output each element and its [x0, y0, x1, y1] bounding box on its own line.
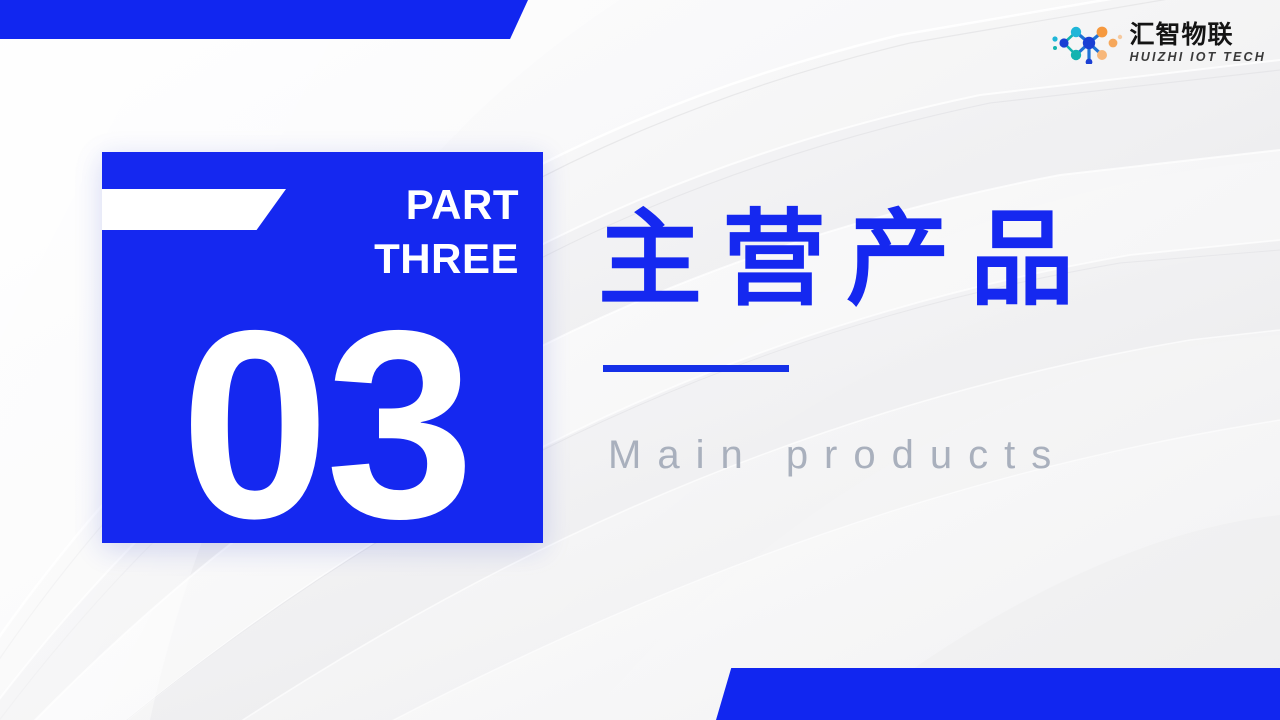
bottom-right-accent-bar [716, 668, 1280, 720]
top-left-accent-bar [0, 0, 528, 39]
company-logo: 汇智物联 HUIZHI IOT TECH [1052, 22, 1266, 64]
page-subtitle: Main products [608, 433, 1067, 478]
logo-text-block: 汇智物联 HUIZHI IOT TECH [1130, 23, 1266, 64]
slide-canvas: PART THREE 03 主营产品 Main products [0, 0, 1280, 720]
title-divider-rule [603, 365, 789, 372]
logo-name-en: HUIZHI IOT TECH [1130, 51, 1266, 64]
part-label-line-1: PART [406, 181, 519, 228]
section-number-panel: PART THREE 03 [102, 152, 543, 543]
molecule-network-icon [1052, 22, 1124, 64]
part-label: PART THREE [102, 178, 519, 286]
logo-name-cn: 汇智物联 [1130, 23, 1266, 48]
section-number: 03 [102, 290, 543, 558]
page-title: 主营产品 [598, 208, 1094, 312]
